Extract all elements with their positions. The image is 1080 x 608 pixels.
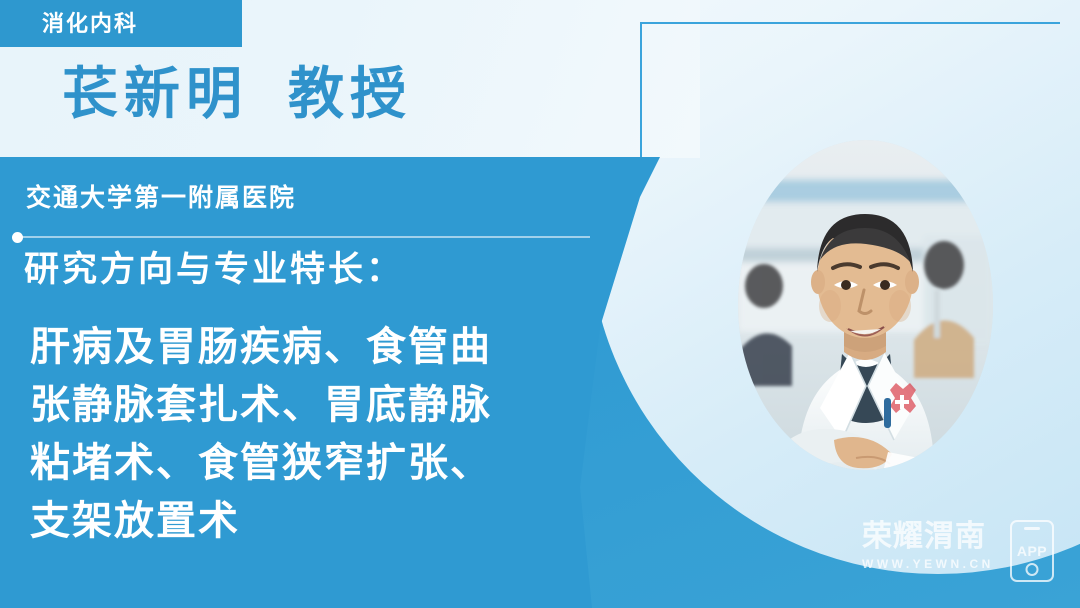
specialty-line: 支架放置术 [30,492,630,550]
doctor-title: 教授 [288,66,412,122]
department-tab-label: 消化内科 [42,13,138,35]
divider-dot-icon [12,232,23,243]
specialty-line: 肝病及胃肠疾病、食管曲 [30,318,630,376]
doctor-name-row: 苌新明 教授 [62,66,412,122]
specialty-line: 粘堵术、食管狭窄扩张、 [30,434,630,492]
doctor-name: 苌新明 [62,66,248,122]
section-divider [20,236,590,238]
watermark-app-label: APP [1012,544,1052,558]
watermark-url: WWW.YEWN.CN [862,558,994,570]
poster-canvas: 消化内科 苌新明 教授 交通大学第一附属医院 研究方向与专业特长： 肝病及胃肠疾… [0,0,1080,608]
department-tab: 消化内科 [0,0,242,47]
section-heading: 研究方向与专业特长： [24,252,404,287]
corner-outline-decoration [640,22,1060,158]
specialty-line: 张静脉套扎术、胃底静脉 [30,376,630,434]
portrait-illustration [738,140,993,470]
doctor-portrait [738,140,993,470]
watermark: 荣耀渭南 WWW.YEWN.CN APP [862,522,1062,584]
doctor-affiliation: 交通大学第一附属医院 [26,186,296,211]
watermark-brand: 荣耀渭南 [862,522,986,552]
specialty-text-block: 肝病及胃肠疾病、食管曲 张静脉套扎术、胃底静脉 粘堵术、食管狭窄扩张、 支架放置… [30,318,630,550]
